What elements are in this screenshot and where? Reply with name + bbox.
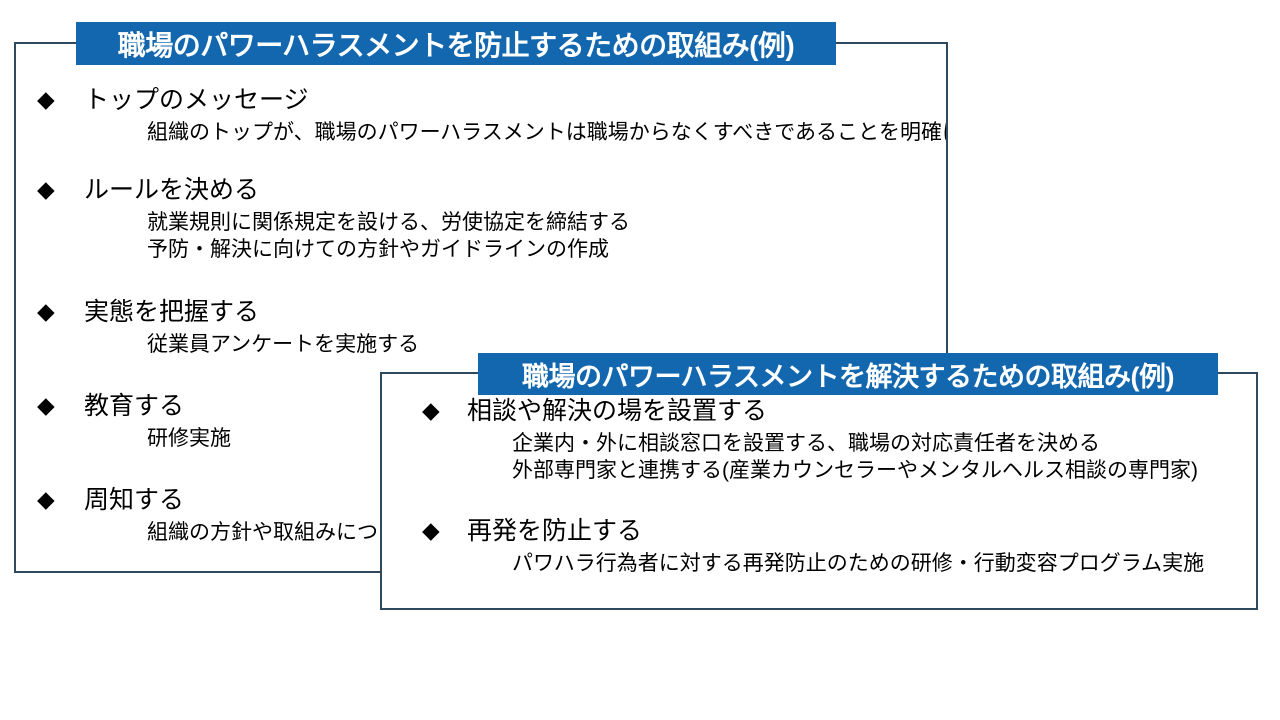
slide-canvas: ◆ トップのメッセージ 組織のトップが、職場のパワーハラスメントは職場からなくす… <box>0 0 1280 720</box>
resolution-panel-title: 職場のパワーハラスメントを解決するための取組み(例) <box>478 353 1218 395</box>
prevention-panel-title: 職場のパワーハラスメントを防止するための取組み(例) <box>76 22 836 65</box>
bullet-sub-block: 企業内・外に相談窓口を設置する、職場の対応責任者を決める 外部専門家と連携する(… <box>512 431 1198 485</box>
bullet-sub-line: 企業内・外に相談窓口を設置する、職場の対応責任者を決める <box>512 431 1198 458</box>
bullet-sub-block: 組織のトップが、職場のパワーハラスメントは職場からなくすべきであることを明確に示… <box>147 120 946 147</box>
bullet-heading: ルールを決める <box>84 178 259 203</box>
bullet-heading-row: ◆ ルールを決める <box>37 178 630 203</box>
bullet-sub-line: 従業員アンケートを実施する <box>147 332 419 359</box>
bullet-group: ◆ 実態を把握する 従業員アンケートを実施する <box>37 300 419 359</box>
bullet-heading: 再発を防止する <box>467 519 642 544</box>
bullet-sub-line: 予防・解決に向けての方針やガイドラインの作成 <box>147 237 630 264</box>
bullet-group: ◆ ルールを決める 就業規則に関係規定を設ける、労使協定を締結する 予防・解決に… <box>37 178 630 264</box>
bullet-sub-block: パワハラ行為者に対する再発防止のための研修・行動変容プログラム実施 <box>512 551 1204 578</box>
bullet-group: ◆ トップのメッセージ 組織のトップが、職場のパワーハラスメントは職場からなくす… <box>37 88 946 147</box>
bullet-sub-line: パワハラ行為者に対する再発防止のための研修・行動変容プログラム実施 <box>512 551 1204 578</box>
bullet-heading: 教育する <box>84 394 184 419</box>
bullet-heading: 相談や解決の場を設置する <box>467 399 767 424</box>
bullet-group: ◆ 再発を防止する パワハラ行為者に対する再発防止のための研修・行動変容プログラ… <box>422 519 1204 578</box>
bullet-sub-line: 就業規則に関係規定を設ける、労使協定を締結する <box>147 210 630 237</box>
resolution-panel-body: ◆ 相談や解決の場を設置する 企業内・外に相談窓口を設置する、職場の対応責任者を… <box>382 374 1256 608</box>
bullet-heading: 実態を把握する <box>84 300 259 325</box>
diamond-bullet-icon: ◆ <box>37 394 84 417</box>
bullet-sub-block: 研修実施 <box>147 426 231 453</box>
bullet-heading-row: ◆ 実態を把握する <box>37 300 419 325</box>
diamond-bullet-icon: ◆ <box>37 488 84 511</box>
bullet-sub-line: 外部専門家と連携する(産業カウンセラーやメンタルヘルス相談の専門家) <box>512 458 1198 485</box>
diamond-bullet-icon: ◆ <box>37 88 84 111</box>
bullet-heading-row: ◆ 教育する <box>37 394 231 419</box>
resolution-panel: ◆ 相談や解決の場を設置する 企業内・外に相談窓口を設置する、職場の対応責任者を… <box>380 372 1258 610</box>
diamond-bullet-icon: ◆ <box>37 300 84 323</box>
bullet-sub-block: 従業員アンケートを実施する <box>147 332 419 359</box>
bullet-group: ◆ 相談や解決の場を設置する 企業内・外に相談窓口を設置する、職場の対応責任者を… <box>422 399 1198 485</box>
bullet-group: ◆ 教育する 研修実施 <box>37 394 231 453</box>
diamond-bullet-icon: ◆ <box>422 519 467 542</box>
bullet-heading: トップのメッセージ <box>84 88 309 113</box>
bullet-heading-row: ◆ トップのメッセージ <box>37 88 946 113</box>
bullet-sub-block: 就業規則に関係規定を設ける、労使協定を締結する 予防・解決に向けての方針やガイド… <box>147 210 630 264</box>
bullet-heading: 周知する <box>84 488 184 513</box>
bullet-heading-row: ◆ 再発を防止する <box>422 519 1204 544</box>
diamond-bullet-icon: ◆ <box>422 399 467 422</box>
diamond-bullet-icon: ◆ <box>37 178 84 201</box>
bullet-sub-line: 研修実施 <box>147 426 231 453</box>
bullet-sub-line: 組織のトップが、職場のパワーハラスメントは職場からなくすべきであることを明確に示… <box>147 120 946 147</box>
bullet-heading-row: ◆ 相談や解決の場を設置する <box>422 399 1198 424</box>
